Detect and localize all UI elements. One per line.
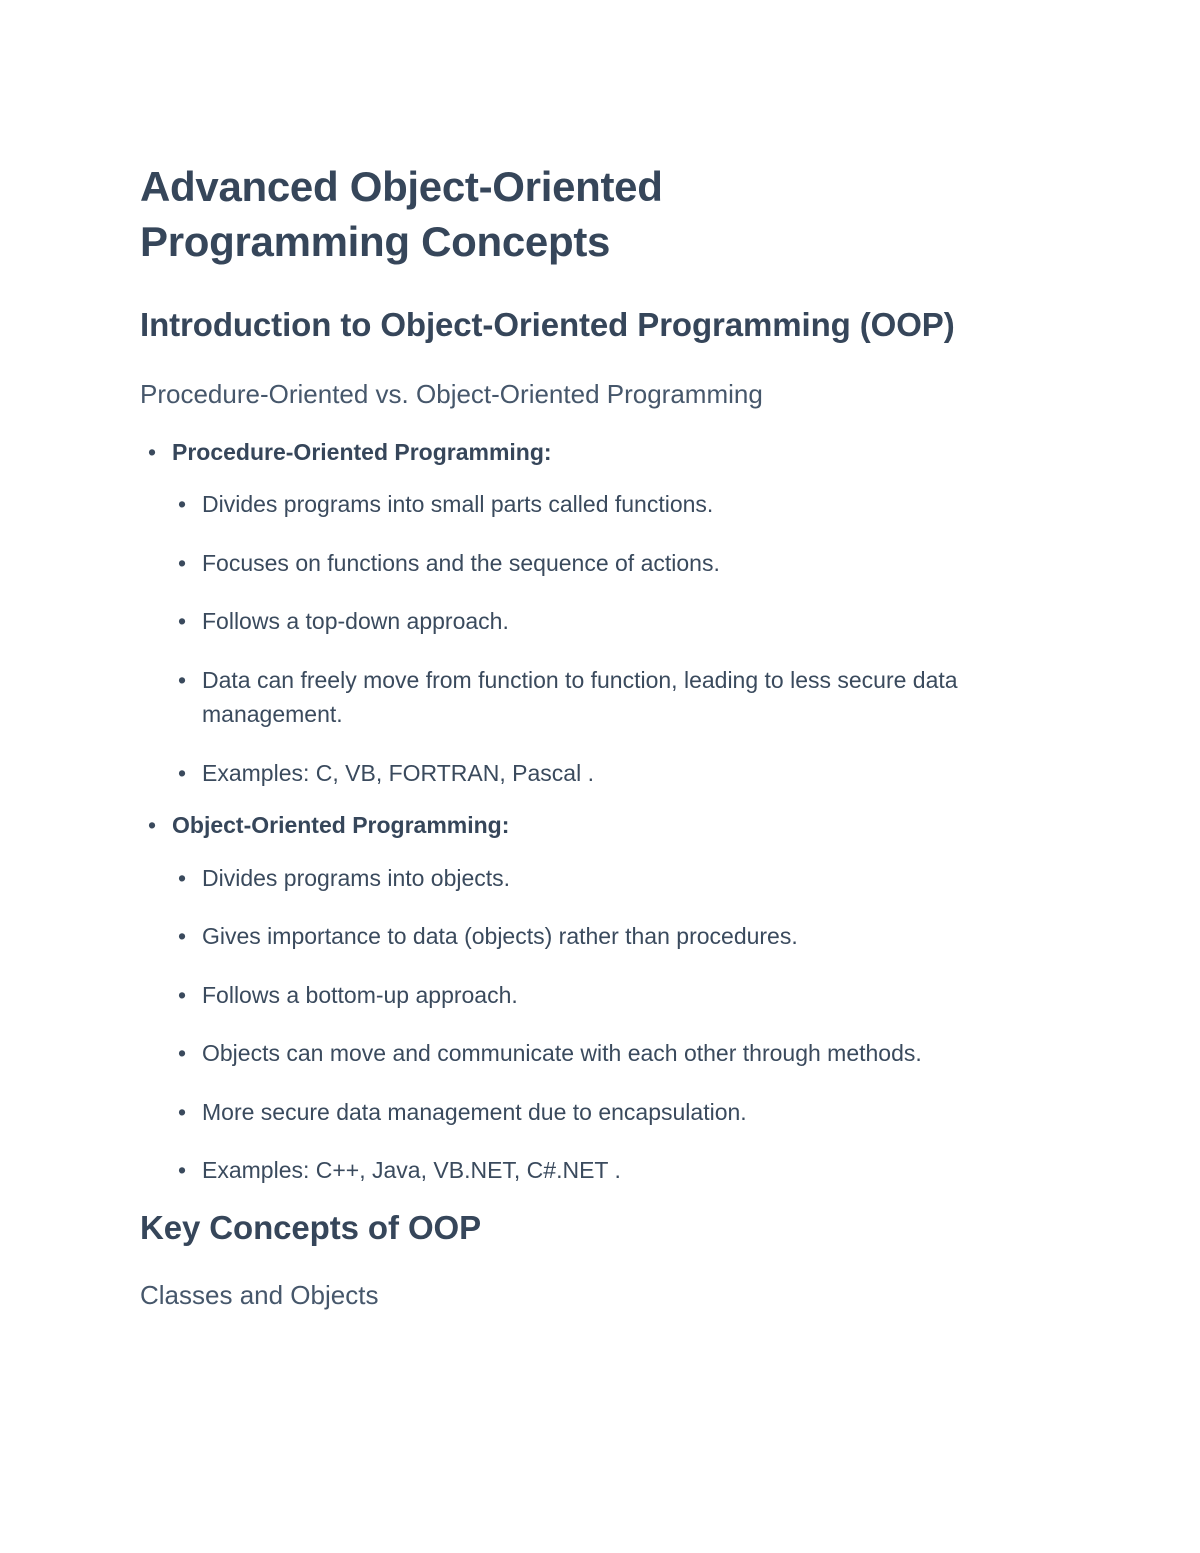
bullet-icon: • — [178, 756, 186, 791]
list-item-text: Examples: C++, Java, VB.NET, C#.NET . — [202, 1153, 1056, 1188]
bullet-icon: • — [178, 978, 186, 1013]
bullet-icon: • — [178, 487, 186, 522]
bullet-icon: • — [148, 808, 156, 843]
bullet-icon: • — [178, 604, 186, 639]
section-heading-introduction: Introduction to Object-Oriented Programm… — [140, 303, 1056, 347]
bullet-icon: • — [178, 919, 186, 954]
sub-heading-procedure-vs-object: Procedure-Oriented vs. Object-Oriented P… — [140, 377, 1056, 412]
list-item: • Divides programs into objects. — [172, 861, 1056, 896]
sub-list-procedure-oriented: • Divides programs into small parts call… — [172, 487, 1056, 790]
list-item-text: Gives importance to data (objects) rathe… — [202, 919, 1056, 954]
bullet-icon: • — [178, 1095, 186, 1130]
list-item-object-oriented: • Object-Oriented Programming: • Divides… — [140, 808, 1056, 1188]
list-item: • Objects can move and communicate with … — [172, 1036, 1056, 1071]
list-item: • Examples: C, VB, FORTRAN, Pascal . — [172, 756, 1056, 791]
sub-heading-classes-and-objects: Classes and Objects — [140, 1278, 1056, 1313]
sub-list-object-oriented: • Divides programs into objects. • Gives… — [172, 861, 1056, 1188]
list-item: • Examples: C++, Java, VB.NET, C#.NET . — [172, 1153, 1056, 1188]
list-item-text: Objects can move and communicate with ea… — [202, 1036, 1056, 1071]
list-item-text: Follows a top-down approach. — [202, 604, 1056, 639]
list-item-text: More secure data management due to encap… — [202, 1095, 1056, 1130]
list-item: • Data can freely move from function to … — [172, 663, 1056, 732]
list-item-text: Focuses on functions and the sequence of… — [202, 546, 1056, 581]
concept-list: • Procedure-Oriented Programming: • Divi… — [140, 435, 1056, 1188]
document-page: Advanced Object-Oriented Programming Con… — [0, 0, 1200, 1553]
list-item-procedure-oriented: • Procedure-Oriented Programming: • Divi… — [140, 435, 1056, 791]
list-item: • Divides programs into small parts call… — [172, 487, 1056, 522]
list-item-label: Procedure-Oriented Programming: — [172, 435, 1056, 470]
bullet-icon: • — [178, 663, 186, 698]
bullet-icon: • — [178, 546, 186, 581]
document-body: Advanced Object-Oriented Programming Con… — [140, 160, 1056, 1335]
list-item: • Follows a bottom-up approach. — [172, 978, 1056, 1013]
list-item: • Gives importance to data (objects) rat… — [172, 919, 1056, 954]
section-heading-key-concepts: Key Concepts of OOP — [140, 1206, 1056, 1250]
list-item: • Follows a top-down approach. — [172, 604, 1056, 639]
list-item-text: Follows a bottom-up approach. — [202, 978, 1056, 1013]
bullet-icon: • — [148, 435, 156, 470]
bullet-icon: • — [178, 1036, 186, 1071]
page-title: Advanced Object-Oriented Programming Con… — [140, 160, 840, 269]
list-item-label: Object-Oriented Programming: — [172, 808, 1056, 843]
list-item-text: Divides programs into objects. — [202, 861, 1056, 896]
bullet-icon: • — [178, 1153, 186, 1188]
list-item-text: Divides programs into small parts called… — [202, 487, 1056, 522]
list-item-text: Data can freely move from function to fu… — [202, 663, 1056, 732]
list-item: • Focuses on functions and the sequence … — [172, 546, 1056, 581]
list-item-text: Examples: C, VB, FORTRAN, Pascal . — [202, 756, 1056, 791]
bullet-icon: • — [178, 861, 186, 896]
list-item: • More secure data management due to enc… — [172, 1095, 1056, 1130]
